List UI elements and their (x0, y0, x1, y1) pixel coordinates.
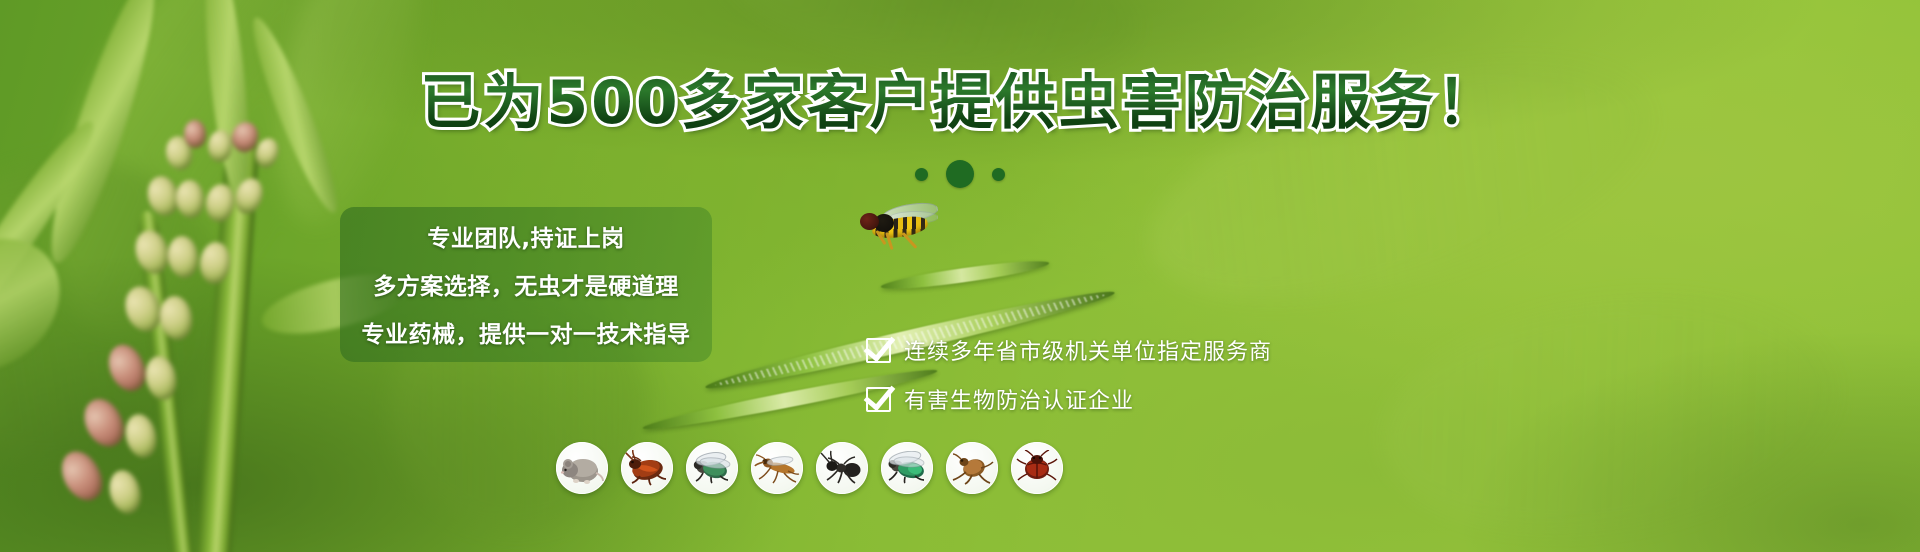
pest-type-icons (556, 442, 1063, 494)
credential-label: 连续多年省市级机关单位指定服务商 (904, 334, 1272, 366)
selling-points-panel: 专业团队,持证上岗 多方案选择，无虫才是硬道理 专业药械，提供一对一技术指导 (340, 207, 712, 362)
bedbug-icon[interactable] (1011, 442, 1063, 494)
credential-item: 有害生物防治认证企业 (866, 383, 1272, 415)
credential-label: 有害生物防治认证企业 (904, 383, 1134, 415)
hoverfly-illustration (850, 200, 954, 256)
selling-point-line-3: 专业药械，提供一对一技术指导 (362, 315, 691, 349)
ant-icon[interactable] (816, 442, 868, 494)
mosquito-icon[interactable] (751, 442, 803, 494)
decorative-dots (0, 160, 1920, 188)
credential-item: 连续多年省市级机关单位指定服务商 (866, 334, 1272, 366)
housefly-icon[interactable] (686, 442, 738, 494)
cockroach-icon[interactable] (621, 442, 673, 494)
selling-point-line-2: 多方案选择，无虫才是硬道理 (373, 267, 679, 301)
headline: 已为500多家客户提供虫害防治服务！ (0, 72, 1920, 135)
greenbottle-fly-icon[interactable] (881, 442, 933, 494)
flea-icon[interactable] (946, 442, 998, 494)
hoverfly-head (860, 213, 879, 230)
pest-control-hero-banner: 已为500多家客户提供虫害防治服务！ 已为500多家客户提供虫害防治服务！ 专业… (0, 0, 1920, 552)
checkbox-checked-icon (866, 338, 891, 363)
dot-small-left-icon (915, 168, 928, 181)
dot-medium-center-icon (946, 160, 974, 188)
dot-small-right-icon (992, 168, 1005, 181)
credentials-list: 连续多年省市级机关单位指定服务商 有害生物防治认证企业 (866, 334, 1272, 432)
selling-point-line-1: 专业团队,持证上岗 (427, 219, 624, 253)
checkbox-checked-icon (866, 387, 891, 412)
mouse-icon[interactable] (556, 442, 608, 494)
headline-text: 已为500多家客户提供虫害防治服务！ (420, 72, 1499, 135)
